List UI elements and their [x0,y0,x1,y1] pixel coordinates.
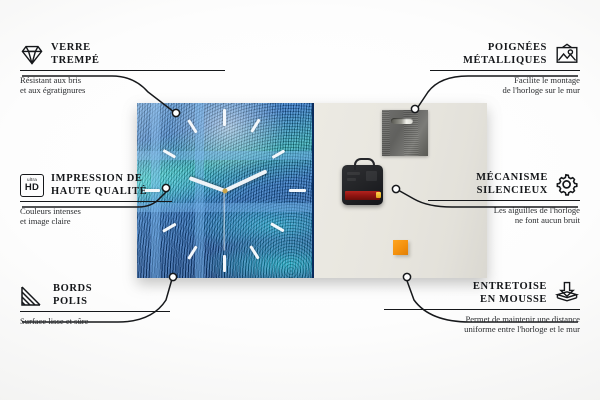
callout-divider [428,200,580,201]
callout-header: VERRE TREMPÉ [20,42,225,67]
callout-poignees-metalliques[interactable]: POIGNÉES MÉTALLIQUES Facilite le montage… [375,42,580,96]
hanger-loop [354,158,375,170]
foam-spacer [393,240,408,255]
callout-title: MÉCANISME SILENCIEUX [476,172,548,197]
callout-header: BORDS POLIS [20,283,225,308]
diamond-icon [20,44,44,66]
callout-header: ENTRETOISE EN MOUSSE [375,281,580,306]
callout-header: MÉCANISME SILENCIEUX [375,172,580,197]
callout-title: ENTRETOISE EN MOUSSE [473,281,547,306]
callout-description: Les aiguilles de l'horloge ne font aucun… [375,205,580,226]
callout-divider [20,201,172,202]
callout-description: Résistant aux bris et aux égratignures [20,75,225,96]
callout-title: POIGNÉES MÉTALLIQUES [463,42,547,67]
callout-mecanisme-silencieux[interactable]: MÉCANISME SILENCIEUX Les aiguilles de l'… [375,172,580,226]
callout-description: Couleurs intenses et image claire [20,206,225,227]
callout-title: IMPRESSION DE HAUTE QUALITÉ [51,173,147,198]
callout-description: Surface lisse et sûre [20,316,225,326]
callout-bords-polis[interactable]: BORDS POLIS Surface lisse et sûre [20,283,225,326]
movement-detail [347,172,360,175]
callout-header: ultra HD IMPRESSION DE HAUTE QUALITÉ [20,173,225,198]
callout-header: POIGNÉES MÉTALLIQUES [375,42,580,67]
callout-divider [20,311,170,312]
callout-title: VERRE TREMPÉ [51,42,100,67]
callout-description: Permet de maintenir une distance uniform… [375,314,580,335]
hanger-slot [391,118,413,124]
arrow-into-layers-icon [554,281,580,306]
beveled-edge-icon [20,285,46,307]
ultra-hd-badge-icon: ultra HD [20,174,44,197]
picture-frame-hook-icon [554,43,580,66]
callout-divider [20,70,225,71]
callout-divider [430,70,580,71]
callout-verre-trempe[interactable]: VERRE TREMPÉ Résistant aux bris et aux é… [20,42,225,96]
callout-divider [384,309,580,310]
gear-icon [555,173,580,197]
callout-description: Facilite le montage de l'horloge sur le … [375,75,580,96]
callout-title: BORDS POLIS [53,283,92,308]
infographic-canvas: VERRE TREMPÉ Résistant aux bris et aux é… [0,0,600,400]
callout-impression-haute-qualite[interactable]: ultra HD IMPRESSION DE HAUTE QUALITÉ Cou… [20,173,225,227]
metal-hanger-plate [382,110,428,156]
callout-entretoise-en-mousse[interactable]: ENTRETOISE EN MOUSSE Permet de maintenir… [375,281,580,335]
movement-detail [347,178,356,181]
